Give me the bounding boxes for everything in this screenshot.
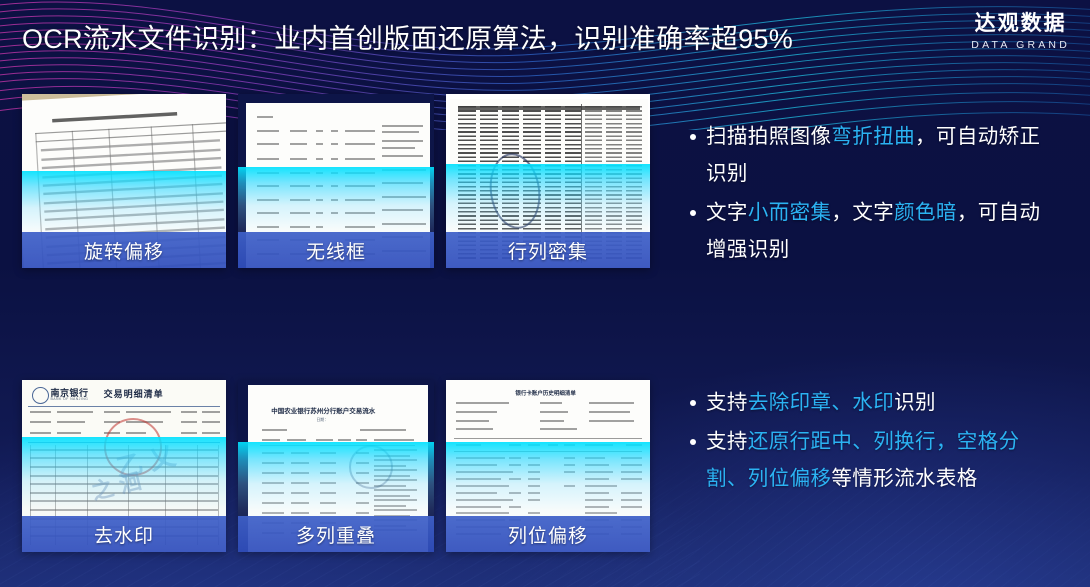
bullet-plain-text: 识别 (894, 391, 936, 414)
thumbnail-caption-dense-rows-cols: 行列密集 (446, 232, 650, 268)
brand-logo-cn: 达观数据 (971, 13, 1070, 34)
thumbnail-overlapping-columns[interactable]: 中国农业银行苏州分行账户交易流水 日期： (238, 380, 434, 552)
bullet-highlight-text: 小而密集 (748, 201, 832, 224)
thumbnail-dense-rows-cols[interactable]: 行列密集 (446, 94, 650, 268)
bullet-group-layout-restore: 支持去除印章、水印识别 支持还原行距中、列换行，空格分割、列位偏移等情形流水表格 (688, 384, 1060, 499)
bullet-item: 支持去除印章、水印识别 (688, 384, 1060, 421)
thumbnail-caption-borderless-table: 无线框 (238, 232, 434, 268)
thumbnail-caption-column-shift: 列位偏移 (446, 516, 650, 552)
doc-title: 银行卡账户历史明细清单 (515, 389, 576, 397)
bullet-plain-text: 支持 (706, 391, 748, 414)
bullet-highlight-text: 去除印章、水印 (748, 391, 894, 414)
bullet-item: 支持还原行距中、列换行，空格分割、列位偏移等情形流水表格 (688, 423, 1060, 497)
bullet-plain-text: 扫描拍照图像 (706, 125, 831, 148)
bullet-group-image-quality: 扫描拍照图像弯折扭曲，可自动矫正识别 文字小而密集，文字颜色暗，可自动增强识别 (688, 118, 1060, 270)
thumbnail-remove-watermark[interactable]: 南京银行 BANK OF NANJING 交易明细清单 (22, 380, 226, 552)
page-title: OCR流水文件识别：业内首创版面还原算法，识别准确率超95% (22, 17, 793, 56)
brand-logo: 达观数据 DATA GRAND (971, 13, 1070, 51)
thumbnail-rotation-offset[interactable]: 旋转偏移 (22, 94, 226, 268)
bullet-plain-text: ，文字 (831, 201, 894, 224)
doc-title: 中国农业银行苏州分行账户交易流水 (271, 405, 375, 415)
bullet-highlight-text: 弯折扭曲 (831, 125, 915, 148)
slide-canvas: OCR流水文件识别：业内首创版面还原算法，识别准确率超95% 达观数据 DATA… (0, 0, 1090, 587)
thumbnail-caption-remove-watermark: 去水印 (22, 516, 226, 552)
thumbnail-caption-rotation-offset: 旋转偏移 (22, 232, 226, 268)
bullet-item: 扫描拍照图像弯折扭曲，可自动矫正识别 (688, 118, 1060, 192)
doc-bank-name-en: BANK OF NANJING (51, 397, 89, 401)
thumbnail-column-shift[interactable]: 银行卡账户历史明细清单 (446, 380, 650, 552)
doc-title: 交易明细清单 (104, 387, 164, 400)
bullet-plain-text: 等情形流水表格 (831, 467, 977, 490)
bullet-item: 文字小而密集，文字颜色暗，可自动增强识别 (688, 194, 1060, 268)
bullet-plain-text: 文字 (706, 201, 748, 224)
brand-logo-en: DATA GRAND (971, 40, 1070, 51)
thumbnail-borderless-table[interactable]: 无线框 (238, 94, 434, 268)
thumbnail-caption-overlapping-columns: 多列重叠 (238, 516, 434, 552)
bullet-highlight-text: 颜色暗 (894, 201, 957, 224)
bullet-plain-text: 支持 (706, 430, 748, 453)
